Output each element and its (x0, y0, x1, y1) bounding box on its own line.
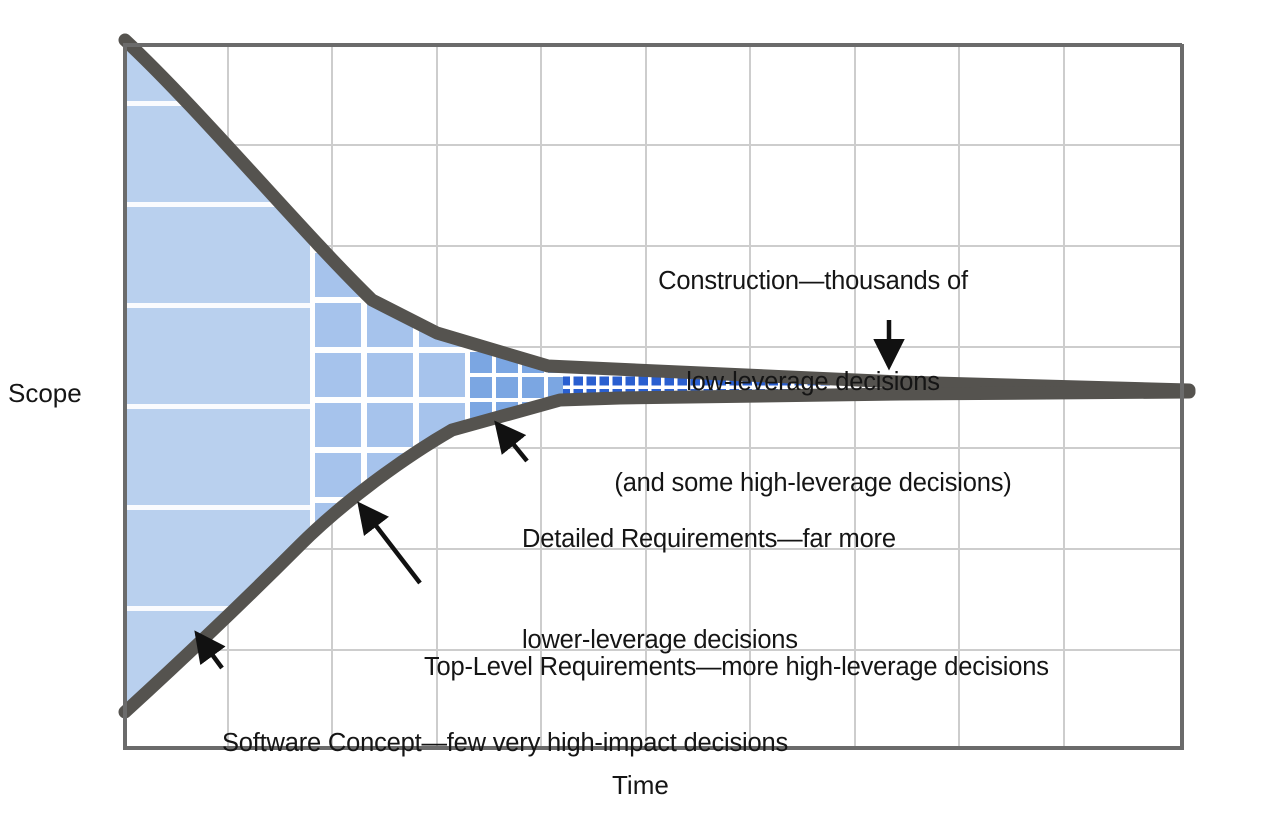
software-concept-annotation-line-1: Software Concept—few very high-impact de… (222, 727, 788, 761)
y-axis-label: Scope (8, 378, 82, 409)
x-axis-label: Time (612, 770, 669, 801)
detailed-requirements-annotation-line-1: Detailed Requirements—far more (522, 523, 1022, 557)
construction-annotation-line-1: Construction—thousands of (613, 265, 1013, 299)
software-concept-annotation: Software Concept—few very high-impact de… (222, 660, 788, 795)
construction-annotation-line-2: low-leverage decisions (613, 366, 1013, 400)
